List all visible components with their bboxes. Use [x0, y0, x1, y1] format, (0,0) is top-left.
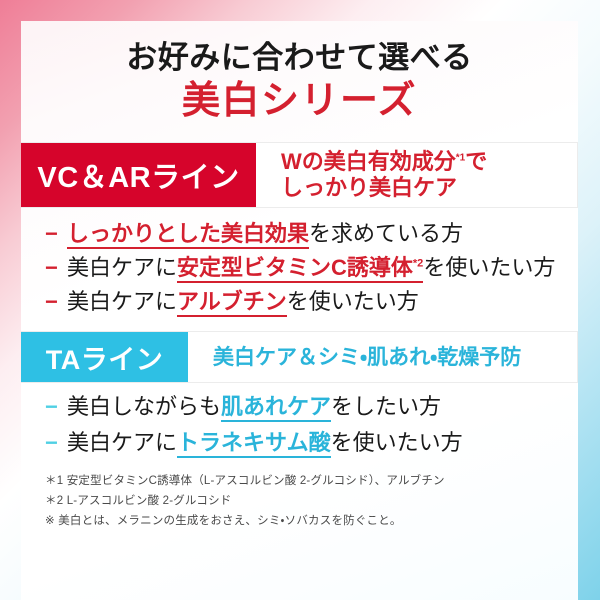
- bullet-plain-before: 美白しながらも: [67, 394, 221, 419]
- bullet-dash-icon: −: [45, 396, 67, 418]
- bullet-plain-before: 美白ケアに: [67, 255, 177, 280]
- bullet-highlight-text: 肌あれケア: [221, 394, 331, 419]
- footnote-line: ＊1 安定型ビタミンC誘導体（L-アスコルビン酸 2-グルコシド）、アルブチン: [45, 472, 578, 492]
- list-item: − しっかりとした美白効果を求めている方: [45, 223, 578, 245]
- bullet-text: 美白ケアにアルブチンを使いたい方: [67, 291, 419, 313]
- ta-banner-row: TAライン 美白ケア＆シミ・肌あれ・乾燥予防: [21, 331, 578, 383]
- list-item: − 美白ケアにトラネキサム酸を使いたい方: [45, 432, 578, 454]
- bullet-plain-after: を使いたい方: [331, 430, 463, 455]
- footnote-marker-1: *1: [456, 153, 465, 164]
- content-card: お好みに合わせて選べる 美白シリーズ VC＆ARライン Wの美白有効成分*1で …: [21, 21, 578, 600]
- poster-background: お好みに合わせて選べる 美白シリーズ VC＆ARライン Wの美白有効成分*1で …: [0, 0, 600, 600]
- bullet-plain-before: 美白ケアに: [67, 289, 177, 314]
- vc-ar-desc-text: Wの美白有効成分: [281, 149, 456, 174]
- bullet-text: 美白しながらも肌あれケアをしたい方: [67, 396, 441, 418]
- bullet-highlight: しっかりとした美白効果: [67, 221, 309, 249]
- footnote-marker-2: *2: [413, 258, 423, 270]
- bullet-plain-after: をしたい方: [331, 394, 441, 419]
- bullet-plain-after: を使いたい方: [423, 255, 555, 280]
- bullet-text: 美白ケアにトラネキサム酸を使いたい方: [67, 432, 463, 454]
- bullet-dash-icon: −: [45, 223, 67, 245]
- bullet-highlight-text: しっかりとした美白効果: [67, 221, 309, 246]
- bullet-text: 美白ケアに安定型ビタミンC誘導体*2を使いたい方: [67, 257, 555, 279]
- bullet-dash-icon: −: [45, 291, 67, 313]
- bullet-highlight-text: 安定型ビタミンC誘導体: [177, 255, 413, 280]
- vc-ar-description: Wの美白有効成分*1で しっかり美白ケア: [256, 143, 577, 207]
- page-title: 美白シリーズ: [21, 79, 578, 125]
- bullet-highlight: アルブチン: [177, 289, 287, 317]
- vc-ar-description-line2: しっかり美白ケア: [281, 175, 577, 201]
- ta-bullet-list: − 美白しながらも肌あれケアをしたい方 − 美白ケアにトラネキサム酸を使いたい方: [21, 383, 578, 454]
- ta-description-line1: 美白ケア＆シミ・肌あれ・乾燥予防: [213, 345, 577, 370]
- bullet-text: しっかりとした美白効果を求めている方: [67, 223, 463, 245]
- list-item: − 美白ケアにアルブチンを使いたい方: [45, 291, 578, 313]
- page-subtitle: お好みに合わせて選べる: [21, 39, 578, 77]
- ta-description: 美白ケア＆シミ・肌あれ・乾燥予防: [188, 332, 577, 382]
- vc-ar-description-line1: Wの美白有効成分*1で: [281, 149, 577, 175]
- bullet-highlight-text: アルブチン: [177, 289, 287, 314]
- bullet-plain-before: 美白ケアに: [67, 430, 177, 455]
- bullet-plain-after: を使いたい方: [287, 289, 419, 314]
- bullet-plain-after: を求めている方: [309, 221, 463, 246]
- vc-ar-banner-row: VC＆ARライン Wの美白有効成分*1で しっかり美白ケア: [21, 142, 578, 208]
- vc-ar-line-tag: VC＆ARライン: [21, 143, 256, 207]
- vc-ar-desc-tail: で: [465, 149, 487, 174]
- list-item: − 美白しながらも肌あれケアをしたい方: [45, 396, 578, 418]
- ta-line-tag: TAライン: [21, 332, 188, 382]
- bullet-highlight: 肌あれケア: [221, 394, 331, 422]
- heading-block: お好みに合わせて選べる 美白シリーズ: [21, 21, 578, 124]
- bullet-highlight: 安定型ビタミンC誘導体*2: [177, 255, 423, 283]
- list-item: − 美白ケアに安定型ビタミンC誘導体*2を使いたい方: [45, 257, 578, 279]
- footnote-line: ＊2 L-アスコルビン酸 2-グルコシド: [45, 492, 578, 512]
- footnote-block: ＊1 安定型ビタミンC誘導体（L-アスコルビン酸 2-グルコシド）、アルブチン …: [21, 468, 578, 531]
- bullet-dash-icon: −: [45, 432, 67, 454]
- bullet-highlight-text: トラネキサム酸: [177, 430, 331, 455]
- vc-ar-bullet-list: − しっかりとした美白効果を求めている方 − 美白ケアに安定型ビタミンC誘導体*…: [21, 208, 578, 313]
- bullet-highlight: トラネキサム酸: [177, 430, 331, 458]
- footnote-line: ※ 美白とは、メラニンの生成をおさえ、シミ・ソバカスを防ぐこと。: [45, 512, 578, 532]
- bullet-dash-icon: −: [45, 257, 67, 279]
